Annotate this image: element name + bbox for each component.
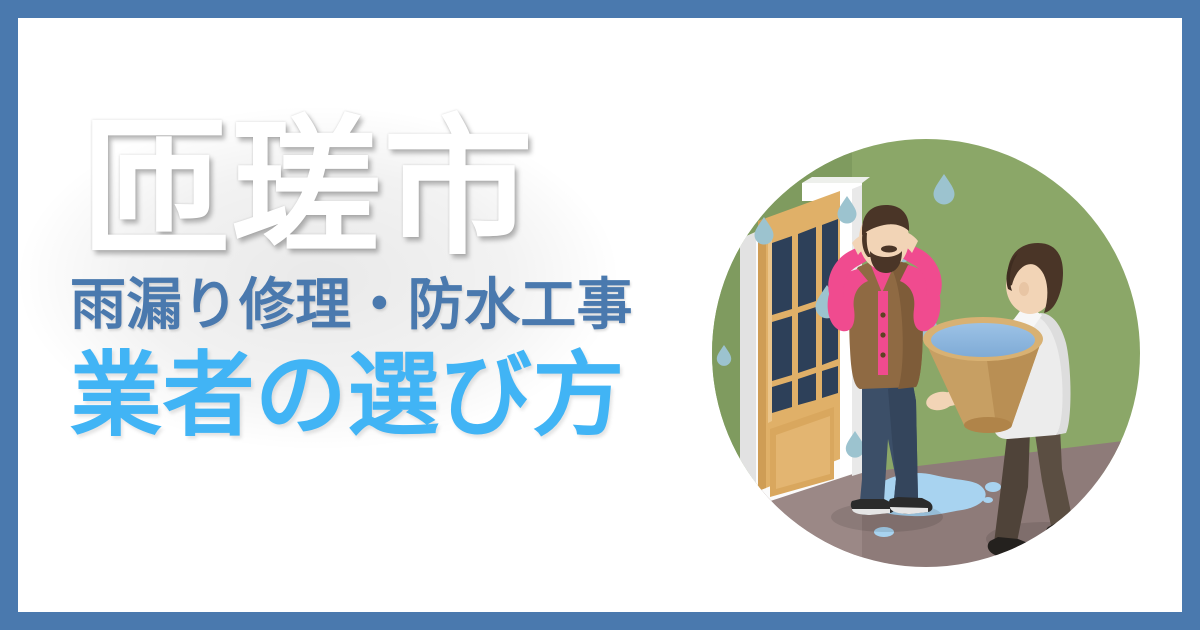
roof-leak-illustration (712, 139, 1140, 567)
hero-subtitle: 雨漏り修理・防水工事 (58, 278, 718, 334)
hero-text-column: 匝瑳市 雨漏り修理・防水工事 業者の選び方 (58, 114, 718, 442)
door-edge (758, 218, 766, 491)
hero-headline: 業者の選び方 (58, 350, 718, 442)
poster-canvas: 匝瑳市 雨漏り修理・防水工事 業者の選び方 (0, 0, 1200, 630)
page-title: 匝瑳市 (58, 114, 718, 264)
white-panel: 匝瑳市 雨漏り修理・防水工事 業者の選び方 (18, 18, 1182, 612)
